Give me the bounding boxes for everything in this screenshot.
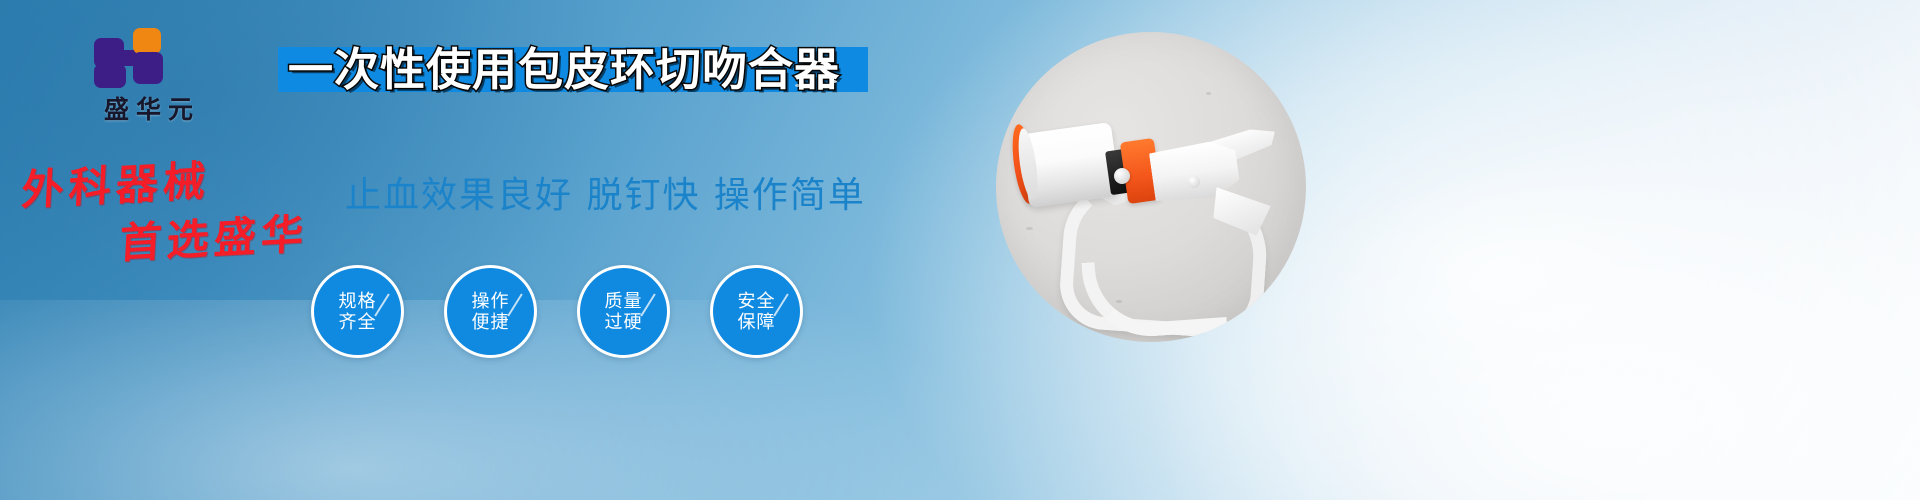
feature-circle-operation[interactable]: 操作 便捷 <box>444 265 537 358</box>
feature-label-line1: 安全 <box>738 291 776 312</box>
feature-label-line1: 规格 <box>339 291 377 312</box>
sparkle-icon <box>812 60 816 64</box>
photo-speck <box>1026 227 1033 230</box>
feature-label-line1: 质量 <box>605 291 643 312</box>
brand-logo[interactable]: 盛华元 <box>62 28 242 124</box>
logo-mark-icon <box>94 28 164 88</box>
sparkle-icon <box>830 80 837 83</box>
feature-label-line1: 操作 <box>472 291 510 312</box>
slash-decoration-icon <box>374 293 389 316</box>
photo-speck <box>1206 92 1211 95</box>
logo-block-orange <box>133 28 161 54</box>
slash-decoration-icon <box>773 293 788 316</box>
stapler-pivot <box>1114 168 1130 184</box>
product-photo <box>996 32 1306 342</box>
subtitle: 止血效果良好 脱钉快 操作简单 <box>345 166 866 218</box>
feature-circle-list: 规格 齐全 操作 便捷 质量 过硬 安全 保障 <box>311 265 803 358</box>
feature-circle-specs[interactable]: 规格 齐全 <box>311 265 404 358</box>
calligraphy-line-2: 首选盛华 <box>118 200 310 271</box>
feature-label-line2: 保障 <box>738 312 776 333</box>
brand-name: 盛华元 <box>62 90 242 126</box>
stapler-pivot-secondary <box>1188 176 1200 188</box>
slash-decoration-icon <box>507 293 522 316</box>
slash-decoration-icon <box>640 293 655 316</box>
sparkle-icon <box>795 84 800 87</box>
page-title: 一次性使用包皮环切吻合器 <box>288 41 868 99</box>
feature-circle-quality[interactable]: 质量 过硬 <box>577 265 670 358</box>
promo-banner: 盛华元 外科器械 首选盛华 一次性使用包皮环切吻合器 止血效果良好 脱钉快 操作… <box>0 0 1920 500</box>
feature-label-line2: 过硬 <box>605 312 643 333</box>
feature-label-line2: 齐全 <box>339 312 377 333</box>
logo-block-bottom-left <box>94 64 126 88</box>
feature-circle-safety[interactable]: 安全 保障 <box>710 265 803 358</box>
logo-block-right <box>133 52 163 84</box>
feature-label-line2: 便捷 <box>472 312 510 333</box>
